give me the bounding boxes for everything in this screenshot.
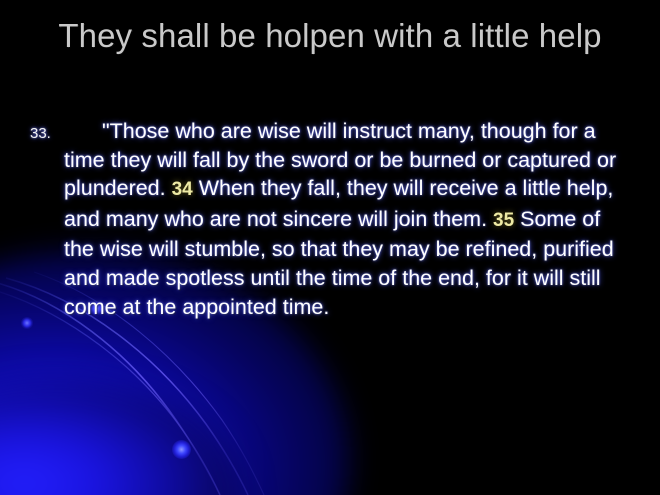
corner-glow-inner-icon (0, 380, 240, 495)
body-paragraph: "Those who are wise will instruct many, … (64, 117, 630, 321)
body-list-item: 33. "Those who are wise will instruct ma… (30, 117, 630, 321)
orbit-node-icon (172, 440, 191, 459)
slide-title: They shall be holpen with a little help (28, 16, 632, 56)
list-item-marker: 33. (30, 117, 64, 148)
verse-number-34: 34 (172, 179, 193, 200)
slide-canvas: They shall be holpen with a little help … (0, 0, 660, 495)
verse-number-35: 35 (493, 210, 514, 231)
